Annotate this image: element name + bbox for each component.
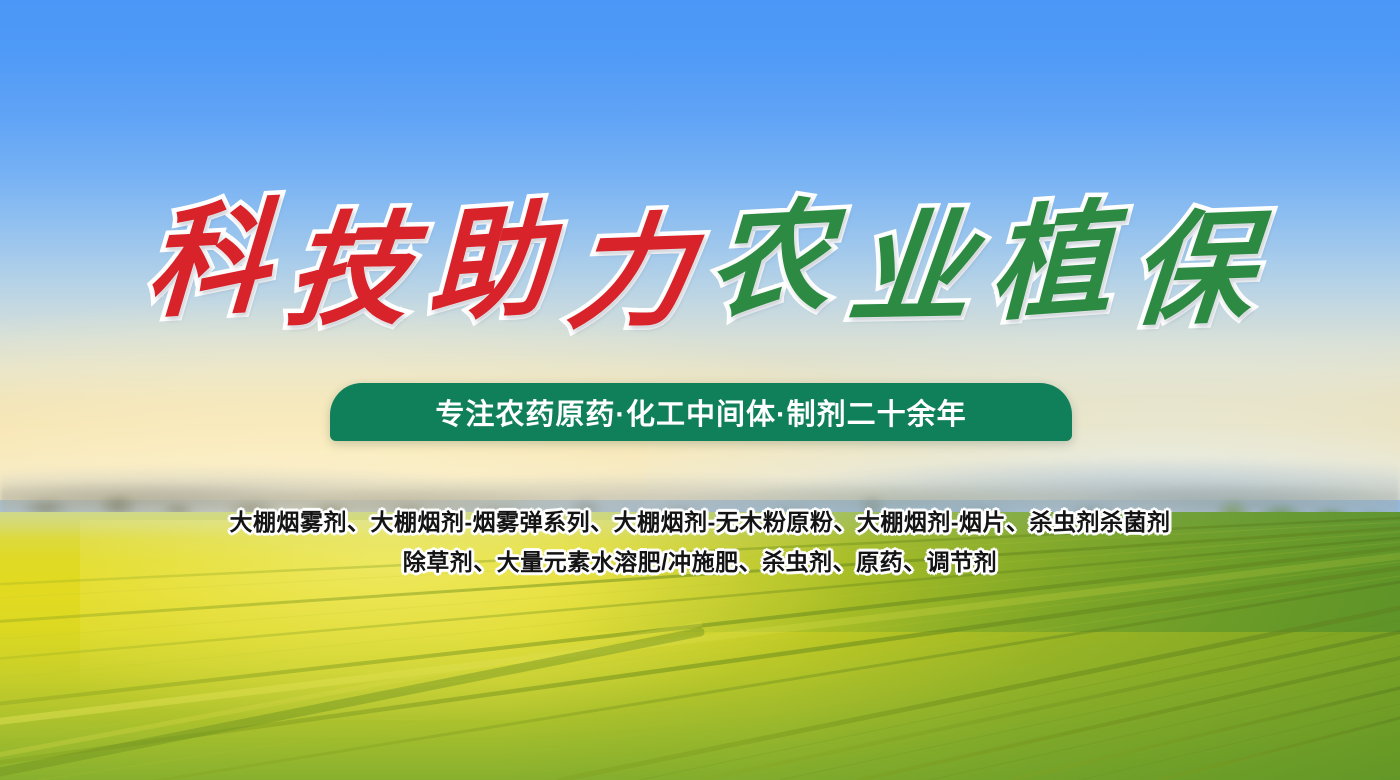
product-line-2: 除草剂、大量元素水溶肥/冲施肥、杀虫剂、原药、调节剂 <box>0 542 1400 582</box>
agriculture-promo-banner: 科 技 助 力 农 业 植 保 专注农药原药·化工中间体·制剂二十余年 大棚烟雾… <box>0 0 1400 780</box>
product-line-1: 大棚烟雾剂、大棚烟剂-烟雾弹系列、大棚烟剂-无木粉原粉、大棚烟剂-烟片、杀虫剂杀… <box>0 502 1400 542</box>
headline-char-7: 植 <box>989 197 1113 328</box>
headline-char-1: 科 <box>144 196 272 325</box>
headline-char-8: 保 <box>1125 206 1258 333</box>
subtitle-pill: 专注农药原药·化工中间体·制剂二十余年 <box>330 383 1072 441</box>
headline-char-5: 农 <box>706 195 834 324</box>
headline-char-3: 助 <box>427 198 551 329</box>
product-list: 大棚烟雾剂、大棚烟剂-烟雾弹系列、大棚烟剂-无木粉原粉、大棚烟剂-烟片、杀虫剂杀… <box>0 502 1400 582</box>
headline-char-4: 力 <box>562 209 697 336</box>
subtitle-text: 专注农药原药·化工中间体·制剂二十余年 <box>435 391 966 433</box>
headline-char-6: 业 <box>843 206 978 330</box>
headline: 科 技 助 力 农 业 植 保 <box>0 205 1400 327</box>
headline-char-2: 技 <box>281 208 416 332</box>
